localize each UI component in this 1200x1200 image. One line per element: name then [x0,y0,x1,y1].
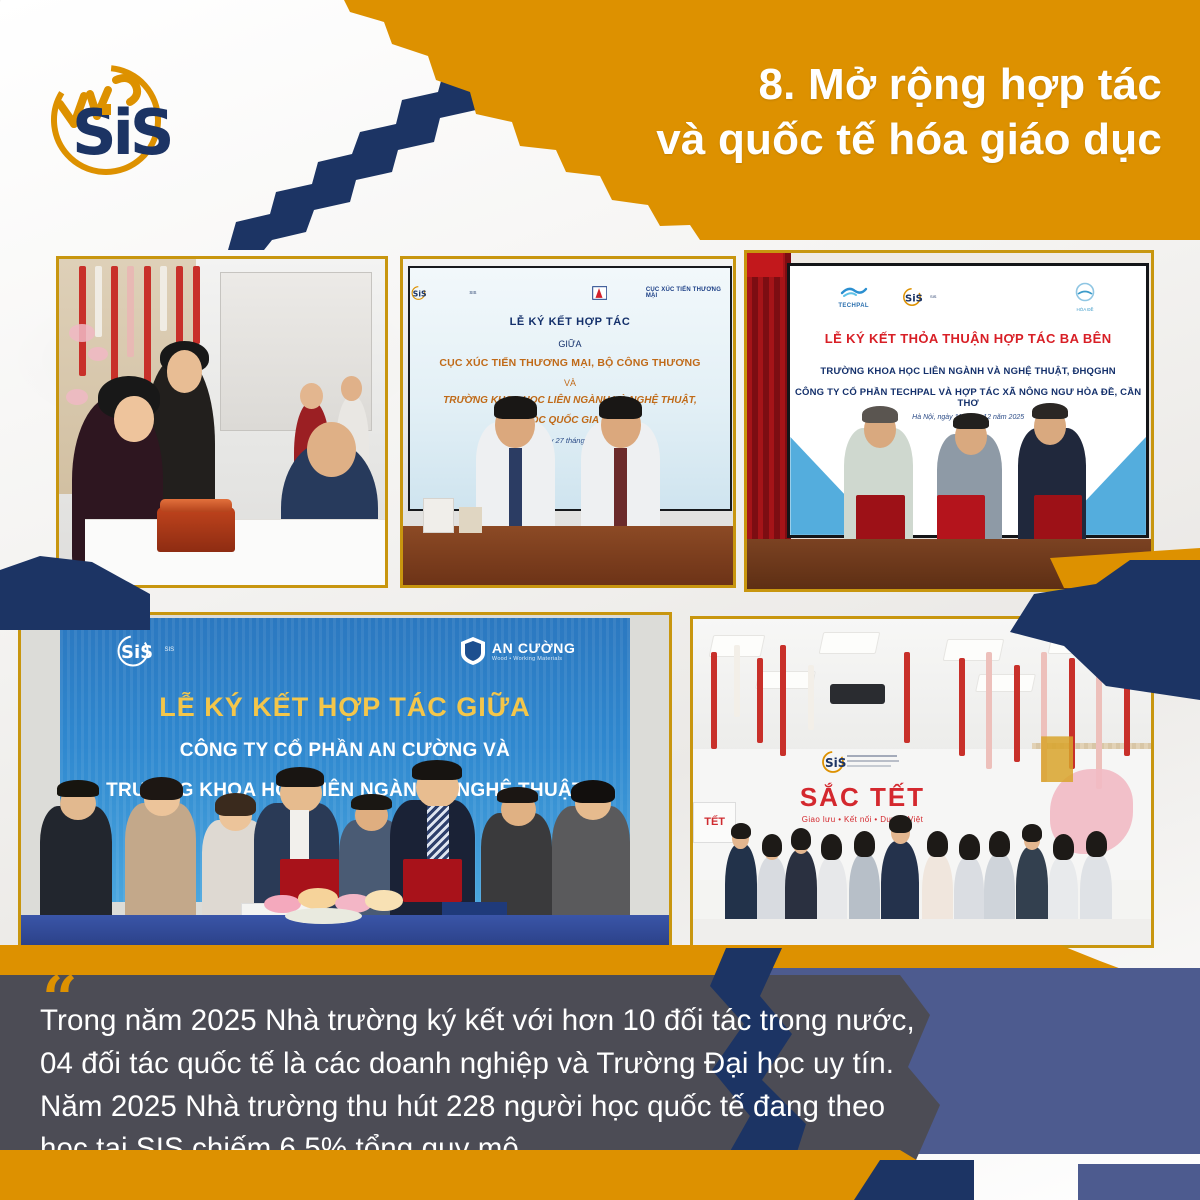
person-background-head [300,383,323,409]
svg-text:SiS: SiS [905,293,923,304]
tet-decoration [127,266,134,357]
hoade-logo-icon [1072,282,1098,302]
photo-signing-ba-ben-techpal[interactable]: TECHPAL SiS SIS [744,250,1154,592]
page-title-line2: và quốc tế hóa giáo dục [462,113,1162,168]
banner-party-a: TRƯỜNG KHOA HỌC LIÊN NGÀNH VÀ NGHỆ THUẬT… [790,366,1146,377]
person-hair [953,413,989,430]
page-title: 8. Mở rộng hợp tác và quốc tế hóa giáo d… [462,58,1162,167]
tet-decoration [95,266,102,338]
gold-pattern-decoration [1041,736,1073,782]
tet-decoration [904,652,910,743]
techpal-logo-icon [840,284,868,298]
quote-line-3: Năm 2025 Nhà trường thu hút 228 người họ… [40,1086,1115,1129]
tet-decoration [780,645,786,756]
person-hair [599,396,642,419]
person-hair [215,793,255,816]
photo-tet-ceremony[interactable] [56,256,388,588]
svg-text:SiS: SiS [413,289,427,298]
person-hair [862,406,898,423]
person-hair [1086,831,1107,857]
person-hair [959,834,980,860]
red-curtain [747,253,791,542]
techpal-logo: TECHPAL [838,284,869,309]
person-head [114,396,153,442]
person-hair [1032,403,1068,420]
bottom-blue-tab [1078,1164,1200,1200]
sis-logo: SiS SIS [901,287,1040,307]
shirt-collar [290,810,309,863]
person-head [167,350,203,392]
banner-party-a: CỤC XÚC TIẾN THƯƠNG MẠI, BỘ CÔNG THƯƠNG [410,357,730,369]
person-hair [1022,824,1043,842]
ceiling-lamp [975,674,1036,692]
vnu-sis-logo: SiS [34,50,174,182]
ceiling-lamp [943,639,1005,661]
sis-logo: SiS SIS [114,634,334,668]
banner-logos: SiS SIS AN CƯỜNG Wood • Working Ma [60,632,630,669]
photo-group-sac-tet[interactable]: SiS SẮC TẾT Giao lưu • Kết nối • Duyên V… [690,616,1154,948]
page-title-line1: 8. Mở rộng hợp tác [758,60,1162,109]
banner-logos: SiS SIS CỤC XÚC TIẾN THƯƠNG MẠI [410,277,730,308]
blossom-decoration [69,324,95,342]
banner-title: LỄ KÝ KẾT HỢP TÁC GIỮA [60,692,630,723]
person-hair [854,831,875,857]
person-hair [762,834,782,857]
sac-tet-banner: SẮC TẾT Giao lưu • Kết nối • Duyên Việt [771,782,954,824]
infographic-poster: 8. Mở rộng hợp tác và quốc tế hóa giáo d… [0,0,1200,1200]
tet-decoration [1014,665,1020,763]
projector [830,684,885,704]
hoade-logo: HÒA ĐỀ [1072,282,1098,312]
lacquer-offering-box [157,507,235,553]
tet-decoration [757,658,763,743]
tet-decoration [959,658,965,756]
tet-decoration [160,266,167,331]
svg-text:SiS: SiS [72,96,171,169]
hoade-logo-text: HÒA ĐỀ [1072,307,1098,312]
sis-logo-icon: SiS [410,282,431,304]
banner-logo-left-text: SIS [469,290,553,297]
person-hair [351,794,391,811]
person-hair [57,780,98,797]
banner-and: VÀ [410,378,730,388]
sac-tet-title: SẮC TẾT [800,782,925,812]
an-cuong-logo-text: AN CƯỜNG [492,640,576,656]
person-hair [989,831,1010,857]
tet-decoration [144,266,151,383]
person-hair [927,831,948,857]
svg-text:SiS: SiS [825,756,846,770]
an-cuong-shield-icon [460,636,486,666]
sis-logo: SiS [821,749,903,775]
floor [693,919,1151,945]
sis-logo-icon: SiS [821,749,901,775]
svg-text:SiS: SiS [121,642,153,663]
photo-signing-an-cuong[interactable]: SiS SIS AN CƯỜNG Wood • Working Ma [18,612,672,948]
signed-folder [1034,495,1082,542]
tet-decoration [193,266,200,344]
person-hair [276,767,324,787]
quote-line-2: 04 đối tác quốc tế là các doanh nghiệp v… [40,1043,1115,1086]
bottom-orange-bar [0,1150,940,1200]
person-hair [494,396,537,419]
tet-side-sign: TẾT [693,802,736,843]
tet-decoration [734,645,740,717]
an-cuong-logo-subtext: Wood • Working Materials [492,656,576,662]
banner-party-a: CÔNG TY CỔ PHẦN AN CƯỜNG VÀ [60,740,630,762]
banner-party-b-line1: TRƯỜNG KHOA HỌC LIÊN NGÀNH VÀ NGHỆ THUẬT… [410,395,730,406]
banner-party-b-line2: ĐẠI HỌC QUỐC GIA HÀ NỘI [410,415,730,426]
banner-title: LỄ KÝ KẾT HỢP TÁC [410,316,730,328]
person-hair [791,828,812,851]
sis-logo-text: SIS [930,294,1040,300]
blossom-decoration [66,389,88,405]
techpal-logo-text: TECHPAL [838,303,869,309]
banner-title: LỄ KÝ KẾT THỎA THUẬN HỢP TÁC BA BÊN [790,331,1146,346]
person-hair [412,760,461,780]
tet-decoration [808,665,814,730]
person-head [307,422,356,477]
photo-signing-cuc-xuc-tien-thuong-mai[interactable]: SiS SIS CỤC XÚC TIẾN THƯƠNG MẠI LỄ KÝ KẾ… [400,256,736,588]
person-hair [1053,834,1074,860]
person-hair [889,815,912,833]
tet-decoration [711,652,717,750]
sis-logo-icon: SiS [901,287,927,307]
sac-tet-subtitle: Giao lưu • Kết nối • Duyên Việt [771,815,954,824]
red-banner-sign [747,253,783,277]
desk-item [423,498,455,533]
person-hair [571,780,615,803]
ceremony-table [85,519,385,585]
banner-logo-right-text: CỤC XÚC TIẾN THƯƠNG MẠI [646,287,730,299]
person-hair [821,834,842,860]
flower-arrangement [254,886,422,932]
sis-logo-icon: SiS [114,634,158,668]
vietrade-logo-icon [592,282,607,304]
banner-party-b: CÔNG TY CỔ PHẦN TECHPAL VÀ HỢP TÁC XÃ NÔ… [790,387,1146,409]
signing-desk [403,526,733,585]
banner-date: Hà Nội, ngày 27 tháng 11 năm 2025 [410,436,730,445]
an-cuong-logo: AN CƯỜNG Wood • Working Materials [460,636,576,666]
banner-logos: TECHPAL SiS SIS [790,280,1146,315]
tet-decoration [79,266,86,377]
presentation-screen: SiS SIS CỤC XÚC TIẾN THƯƠNG MẠI LỄ KÝ KẾ… [408,266,732,511]
flower-vase [459,507,482,533]
tet-decoration [986,652,992,769]
person-hair [497,787,538,804]
signed-folder [856,495,904,542]
person-hair [731,823,751,839]
person-hair [140,777,183,800]
ceiling-lamp [819,632,881,654]
tet-side-sign-text: TẾT [704,816,725,828]
quote-line-1: Trong năm 2025 Nhà trường ký kết với hơn… [40,1000,1115,1043]
person-background-head [341,376,362,400]
quote-text: Trong năm 2025 Nhà trường ký kết với hơn… [40,1000,1115,1171]
sis-logo-text: SIS [164,646,334,656]
banner-between: GIỮA [410,339,730,349]
